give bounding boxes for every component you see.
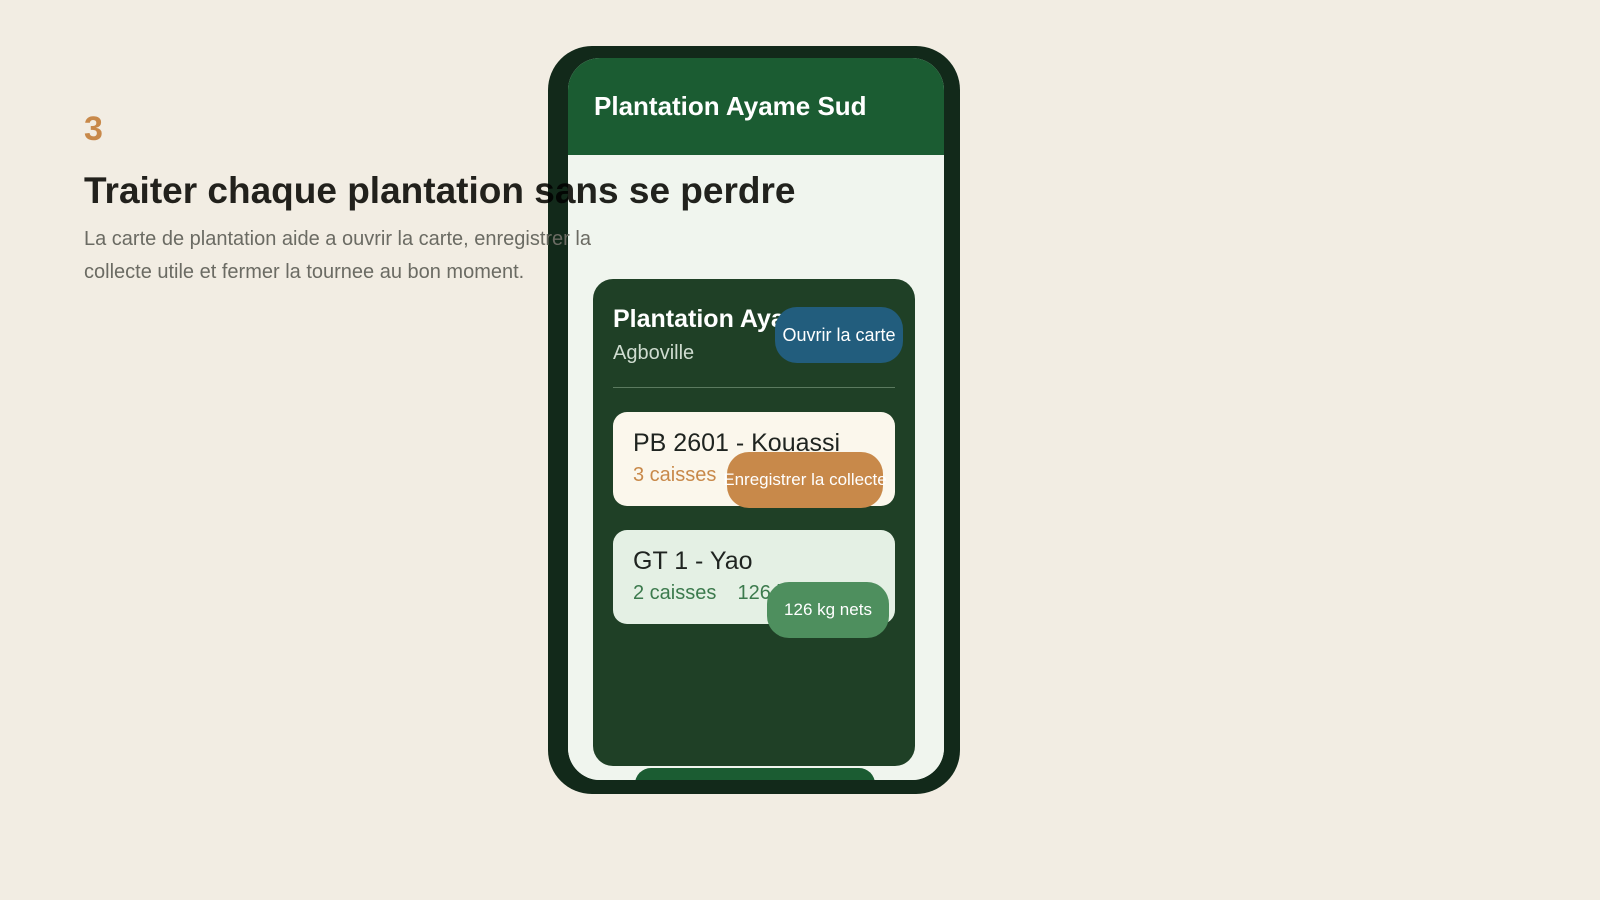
page-description: La carte de plantation aide a ouvrir la …: [84, 223, 644, 289]
save-collect-button[interactable]: Enregistrer la collecte: [727, 452, 883, 508]
net-weight-badge[interactable]: 126 kg nets: [767, 582, 889, 638]
plot-cases: 3 caisses: [633, 464, 716, 486]
panel-divider: [613, 387, 895, 388]
open-map-button[interactable]: Ouvrir la carte: [775, 307, 903, 363]
step-number: 3: [84, 112, 804, 146]
net-weight-badge-label: 126 kg nets: [784, 600, 872, 620]
plot-cases: 2 caisses: [633, 582, 716, 604]
plot-name: GT 1 - Yao: [633, 547, 875, 576]
open-map-button-label: Ouvrir la carte: [782, 325, 895, 346]
finish-button[interactable]: Terminer: [635, 768, 875, 780]
step-explainer: 3 Traiter chaque plantation sans se perd…: [84, 112, 804, 289]
save-collect-button-label: Enregistrer la collecte: [723, 470, 886, 490]
